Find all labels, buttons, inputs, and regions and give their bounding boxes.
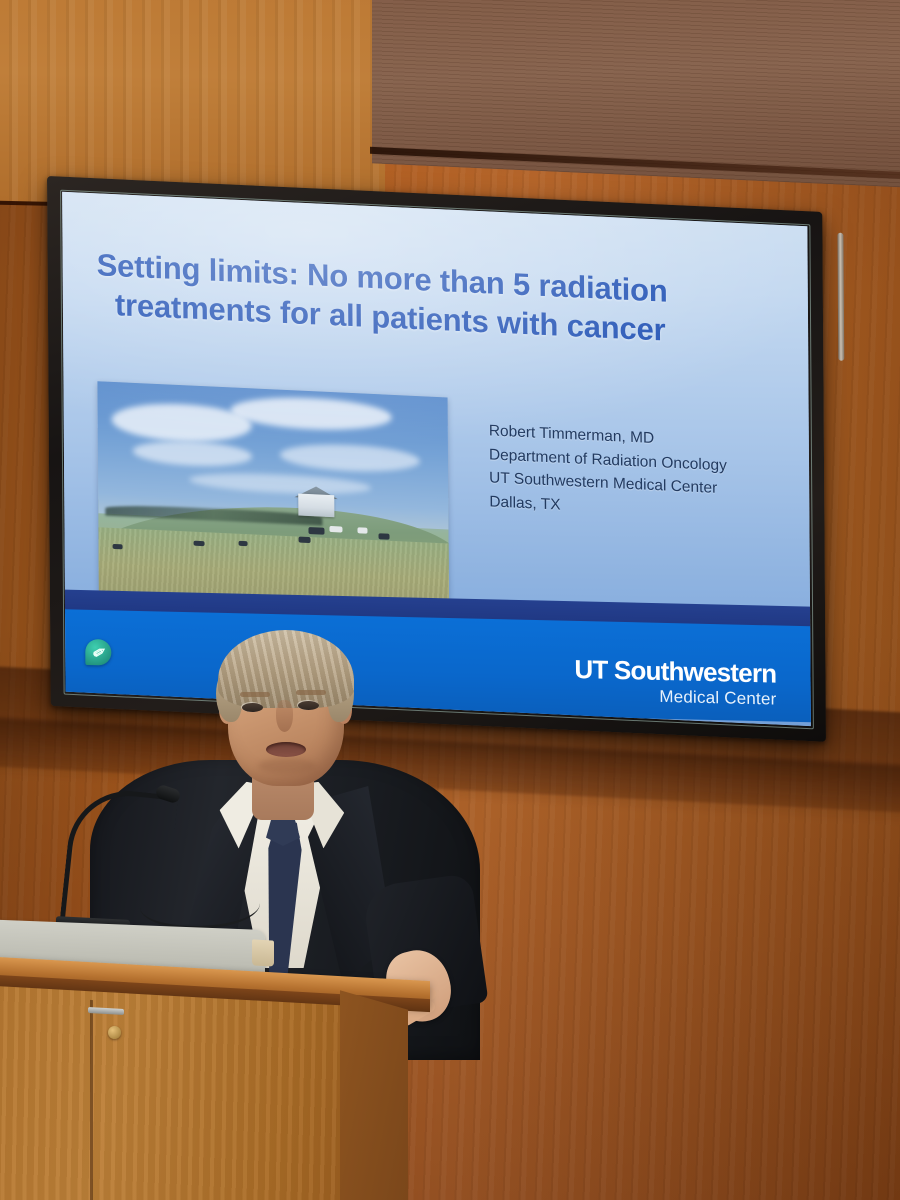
eye-left xyxy=(242,703,263,712)
podium-door-seam xyxy=(90,1000,93,1200)
podium-side-panel xyxy=(340,990,408,1200)
nose xyxy=(276,700,293,732)
coffee-cup xyxy=(252,939,274,966)
podium-lock[interactable] xyxy=(108,1026,121,1039)
hair xyxy=(218,630,354,708)
eyebrow-left xyxy=(240,692,270,697)
eye-right xyxy=(298,701,319,710)
mouth xyxy=(266,742,306,757)
display-mount-strip xyxy=(837,233,844,361)
eyebrow-right xyxy=(296,690,326,695)
podium-front-panel xyxy=(0,984,390,1200)
presentation-room-scene: Setting limits: No more than 5 radiation… xyxy=(0,0,900,1200)
chin-shadow xyxy=(258,758,316,774)
lectern[interactable] xyxy=(0,930,460,1200)
